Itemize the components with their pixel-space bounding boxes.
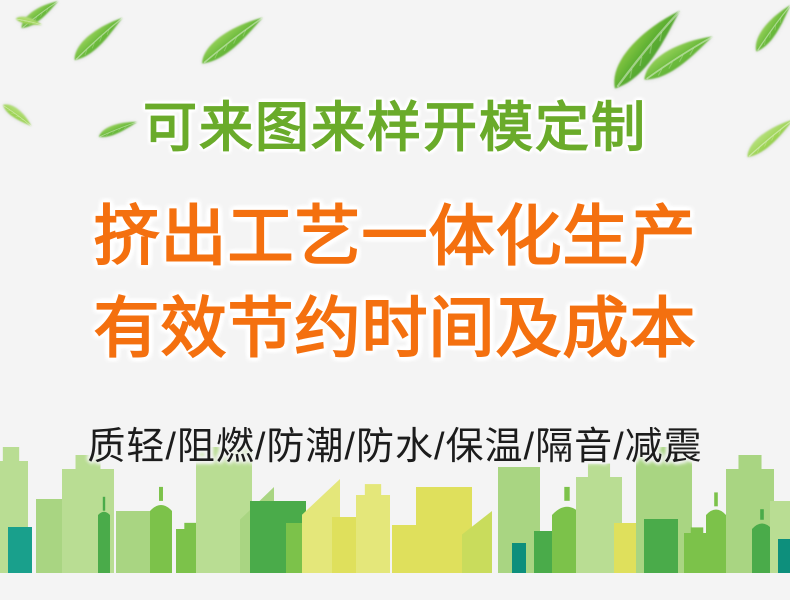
building-icon — [644, 519, 678, 573]
headline-custom-mold: 可来图来样开模定制 — [0, 98, 790, 158]
feature-list: 质轻/阻燃/防潮/防水/保温/隔音/减震 — [0, 424, 790, 470]
building-icon — [534, 531, 554, 573]
building-icon — [512, 543, 526, 573]
building-icon — [8, 527, 32, 573]
building-icon — [150, 487, 172, 573]
headline-save-time-cost: 有效节约时间及成本 — [0, 292, 790, 364]
building-icon — [392, 525, 418, 573]
headline-extrusion-process: 挤出工艺一体化生产 — [0, 200, 790, 272]
building-icon — [778, 539, 790, 573]
promo-banner: 可来图来样开模定制 挤出工艺一体化生产 有效节约时间及成本 质轻/阻燃/防潮/防… — [0, 0, 790, 600]
building-icon — [706, 492, 726, 573]
building-icon — [356, 484, 390, 573]
